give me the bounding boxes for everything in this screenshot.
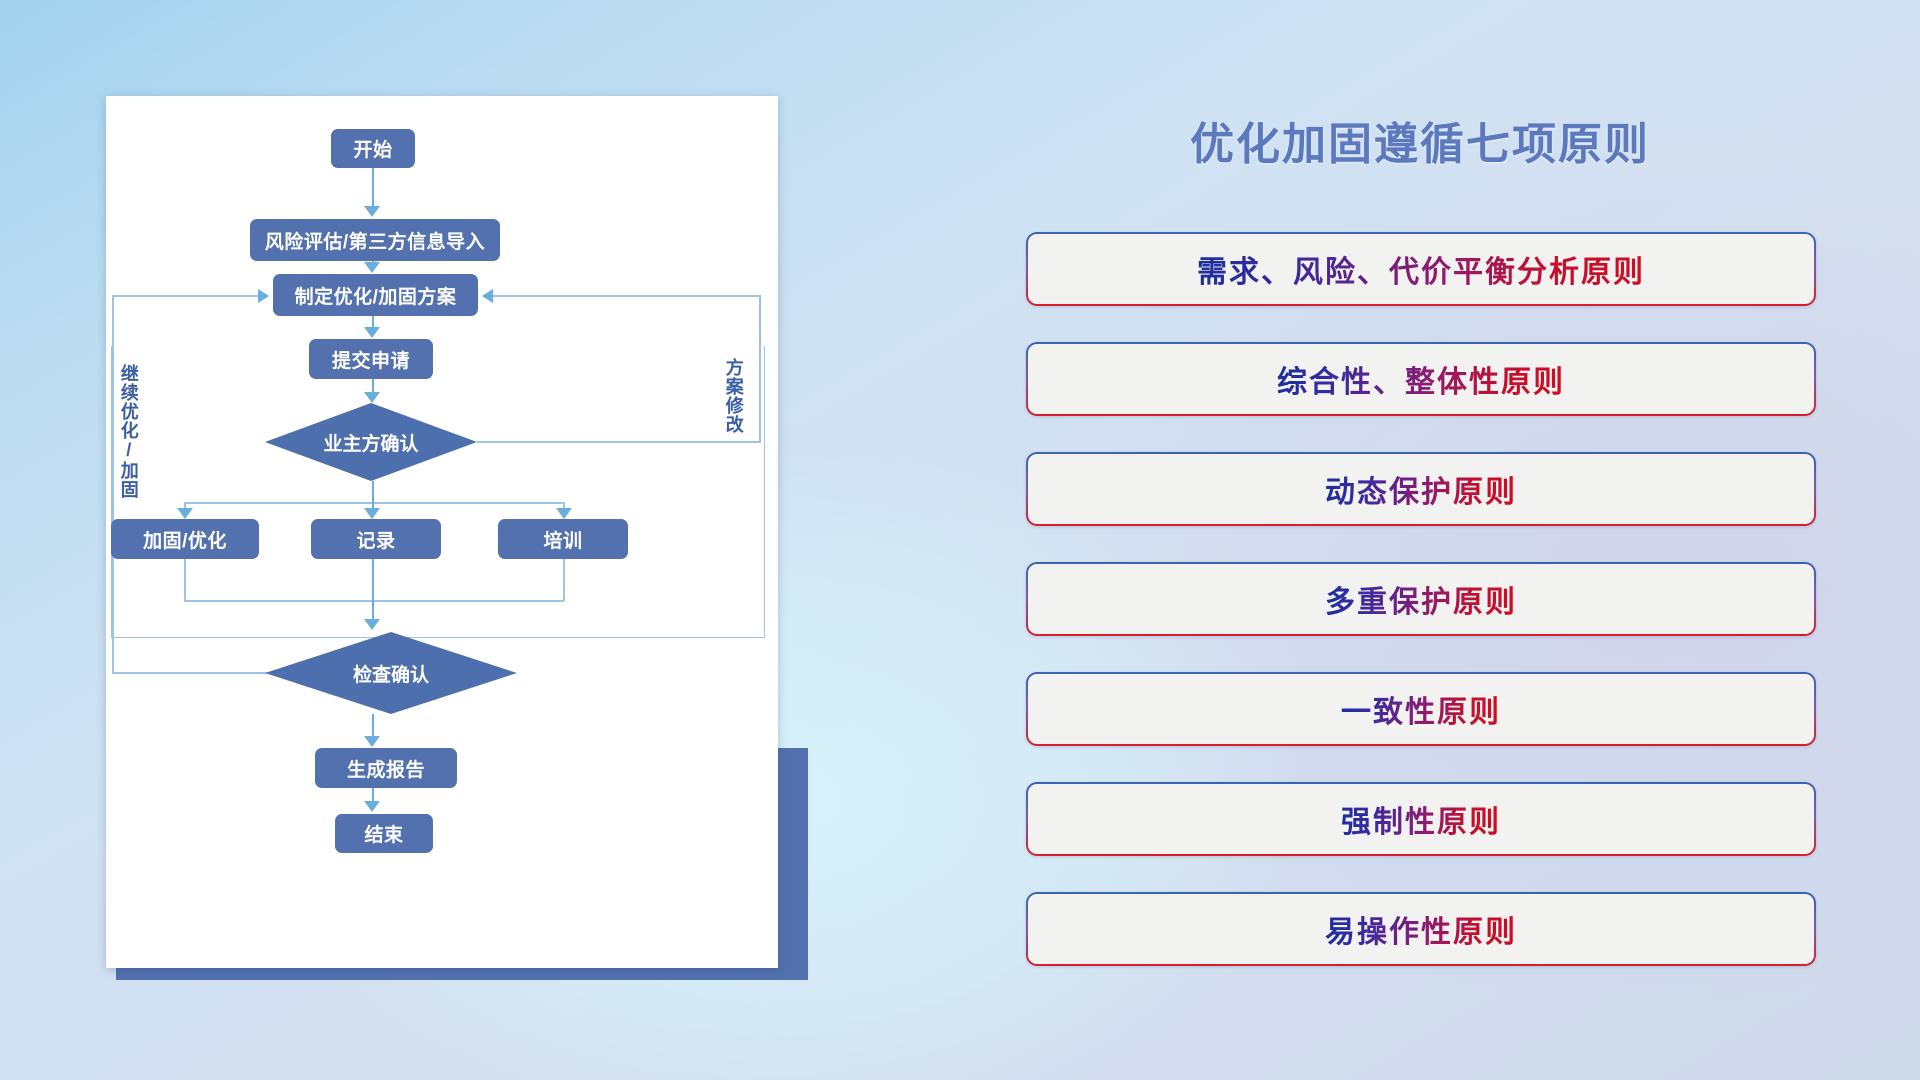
flow-node-risk-assessment[interactable]: 风险评估/第三方信息导入 [250,219,500,261]
flow-node-check-confirm[interactable]: 检查确认 [265,632,517,714]
connector-reinforce-down [184,559,186,601]
connector-right-loop-riser [759,295,761,442]
connector-training-down [563,559,565,601]
connector-owner-right-branch [477,441,761,443]
connector-left-loop-to-plan [112,295,259,297]
principle-card-4[interactable]: 多重保护原则 [1026,562,1816,636]
page-title: 优化加固遵循七项原则 [1020,108,1820,172]
arrowhead-down [177,508,193,519]
principle-card-inner: 需求、风险、代价平衡分析原则 [1028,234,1813,303]
arrowhead-down [364,736,380,747]
connector-merge-to-check [372,559,374,621]
principle-card-3[interactable]: 动态保护原则 [1026,452,1816,526]
connector-start-to-risk [372,168,374,208]
principle-card-1[interactable]: 需求、风险、代价平衡分析原则 [1026,232,1816,306]
arrowhead-down [364,327,380,338]
principles-card-list: 需求、风险、代价平衡分析原则 综合性、整体性原则 动态保护原则 多重保护原则 [1026,232,1816,1002]
principle-card-label: 易操作性原则 [1325,907,1517,951]
principle-card-label: 动态保护原则 [1325,467,1517,511]
flow-node-label: 业主方确认 [323,429,418,456]
flow-node-training[interactable]: 培训 [498,519,628,559]
principle-card-5[interactable]: 一致性原则 [1026,672,1816,746]
arrowhead-down [364,206,380,217]
arrowhead-right [258,289,269,303]
principle-card-inner: 易操作性原则 [1028,894,1813,963]
principle-card-label: 多重保护原则 [1325,577,1517,621]
connector-check-to-report [372,714,374,736]
principle-card-label: 强制性原则 [1341,797,1501,841]
flow-node-label: 加固/优化 [143,526,227,553]
flow-node-label: 生成报告 [347,755,425,782]
flow-node-plan[interactable]: 制定优化/加固方案 [273,274,478,316]
flow-node-submit-application[interactable]: 提交申请 [309,339,433,379]
flow-edge-label-plan-revision: 方案修改 [724,358,743,474]
principle-card-label: 一致性原则 [1341,687,1501,731]
connector-left-loop-riser [112,295,114,673]
flow-node-record[interactable]: 记录 [311,519,441,559]
arrowhead-down [364,619,380,630]
arrowhead-down [556,508,572,519]
arrowhead-down [364,508,380,519]
principle-card-inner: 一致性原则 [1028,674,1813,743]
flow-node-label: 结束 [364,820,403,847]
principles-panel: 优化加固遵循七项原则 需求、风险、代价平衡分析原则 综合性、整体性原则 动态保护… [1020,0,1850,1080]
flow-node-label: 检查确认 [353,660,429,687]
flow-node-owner-confirm[interactable]: 业主方确认 [265,403,477,481]
principle-card-inner: 综合性、整体性原则 [1028,344,1813,413]
flow-node-label: 制定优化/加固方案 [295,282,457,309]
arrowhead-down [364,392,380,403]
flow-node-start[interactable]: 开始 [331,129,415,168]
flow-node-label: 风险评估/第三方信息导入 [265,227,485,254]
flowchart-loop-boundary [111,346,765,638]
flow-node-label: 记录 [356,526,395,553]
arrowhead-down [364,801,380,812]
connector-owner-down [372,481,374,503]
flowchart-panel: 开始 风险评估/第三方信息导入 制定优化/加固方案 提交申请 业主方确认 加固/… [106,96,778,968]
principle-card-label: 需求、风险、代价平衡分析原则 [1197,247,1645,291]
flow-node-label: 提交申请 [332,346,410,373]
flow-node-generate-report[interactable]: 生成报告 [315,748,457,788]
principle-card-inner: 动态保护原则 [1028,454,1813,523]
principle-card-2[interactable]: 综合性、整体性原则 [1026,342,1816,416]
slide-canvas: 开始 风险评估/第三方信息导入 制定优化/加固方案 提交申请 业主方确认 加固/… [0,0,1920,1080]
arrowhead-down [364,262,380,273]
flow-edge-label-continue-optimize: 继续优化/加固 [119,364,138,524]
principle-card-inner: 多重保护原则 [1028,564,1813,633]
flow-node-label: 培训 [543,526,582,553]
principle-card-7[interactable]: 易操作性原则 [1026,892,1816,966]
flow-node-end[interactable]: 结束 [335,814,433,853]
connector-submit-to-owner [372,379,374,393]
principle-card-label: 综合性、整体性原则 [1277,357,1565,401]
flow-node-reinforce[interactable]: 加固/优化 [111,519,259,559]
principle-card-inner: 强制性原则 [1028,784,1813,853]
flow-node-label: 开始 [353,135,392,162]
connector-check-left-branch [112,672,267,674]
principle-card-6[interactable]: 强制性原则 [1026,782,1816,856]
connector-report-to-end [372,788,374,802]
connector-right-loop-to-plan [492,295,760,297]
arrowhead-left [482,289,493,303]
